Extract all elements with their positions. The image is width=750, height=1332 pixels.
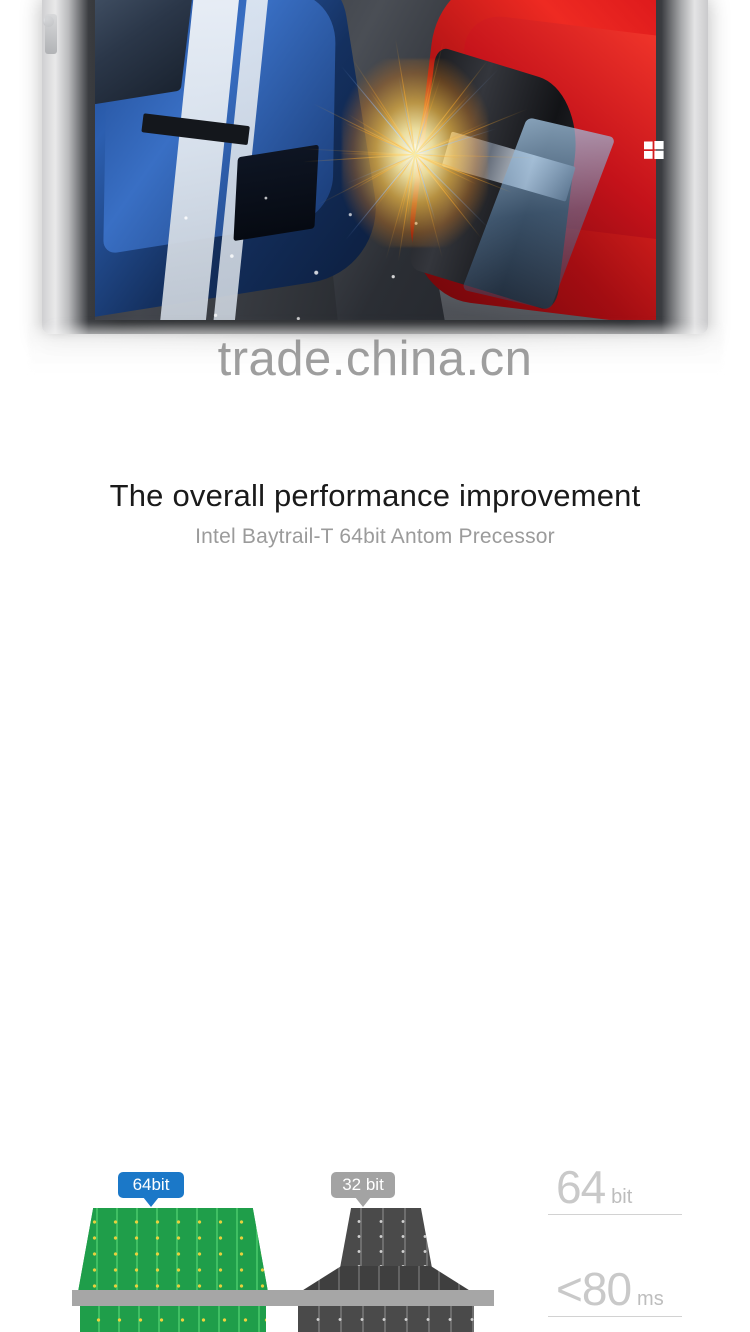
32bit-base-chips bbox=[298, 1306, 474, 1332]
32bit-lane-chips bbox=[340, 1208, 432, 1268]
badge-32bit-label: 32 bit bbox=[342, 1175, 384, 1194]
product-hero: trade.china.cn bbox=[0, 0, 750, 400]
64bit-lane-stack bbox=[78, 1208, 268, 1322]
stat-latency: <80 ms bbox=[548, 1266, 682, 1317]
32bit-divider-bar bbox=[272, 1290, 494, 1306]
32bit-fan-deck bbox=[300, 1266, 472, 1292]
page-title: The overall performance improvement bbox=[0, 478, 750, 514]
badge-32bit-pointer bbox=[355, 1197, 371, 1207]
badge-64bit-label: 64bit bbox=[133, 1175, 170, 1194]
page-subtitle: Intel Baytrail-T 64bit Antom Precessor bbox=[0, 525, 750, 549]
volume-rocker-icon[interactable] bbox=[45, 14, 57, 54]
tablet-screen-frame bbox=[95, 0, 656, 320]
stat-bit-width-unit: bit bbox=[611, 1186, 632, 1209]
64bit-base-chips bbox=[80, 1306, 266, 1332]
stat-bit-width-row: 64 bit bbox=[548, 1164, 682, 1210]
stat-bit-width-rule bbox=[548, 1214, 682, 1215]
badge-32bit: 32 bit bbox=[331, 1172, 395, 1198]
badge-64bit-pointer bbox=[143, 1197, 159, 1207]
watermark-band bbox=[30, 322, 722, 374]
badge-64bit: 64bit bbox=[118, 1172, 184, 1198]
spark-burst bbox=[241, 6, 589, 313]
screen-artwork bbox=[95, 0, 656, 320]
tablet-device bbox=[42, 0, 708, 334]
64bit-divider-bar bbox=[72, 1290, 280, 1306]
stat-latency-rule bbox=[548, 1316, 682, 1317]
stat-latency-unit: ms bbox=[637, 1288, 664, 1311]
performance-infographic: 64bit 32 bit 64 bit <80 ms bbox=[0, 580, 750, 742]
stat-bit-width-number: 64 bbox=[556, 1164, 605, 1210]
windows-logo-icon[interactable] bbox=[644, 141, 664, 159]
stat-bit-width: 64 bit bbox=[548, 1164, 682, 1215]
64bit-lane-chips bbox=[78, 1208, 268, 1292]
stat-latency-number: <80 bbox=[556, 1266, 631, 1312]
stat-latency-row: <80 ms bbox=[548, 1266, 682, 1312]
32bit-lane-stack bbox=[290, 1208, 480, 1322]
